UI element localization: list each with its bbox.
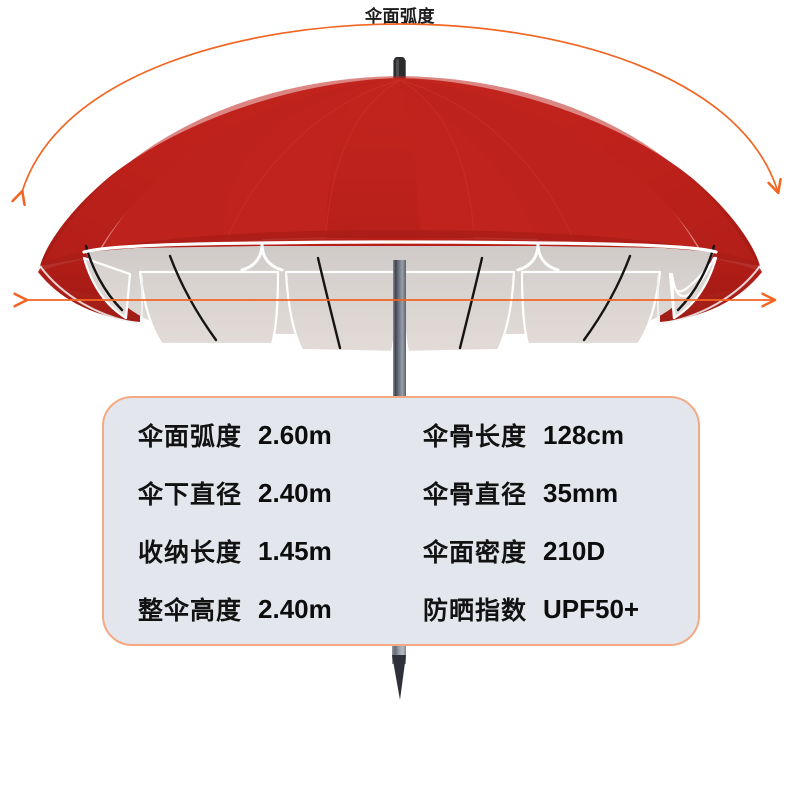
spec-row-3-right: 伞面密度 210D xyxy=(401,533,698,569)
spec-row-2-left: 伞下直径 2.40m xyxy=(104,475,401,511)
spec-label-rib-length: 伞骨长度 xyxy=(423,417,527,453)
spec-label-fabric-density: 伞面密度 xyxy=(423,533,527,569)
product-infographic: 伞面弧度 伞下直径 xyxy=(0,0,800,800)
specifications-grid: 伞面弧度 2.60m 伞骨长度 128cm 伞下直径 2.40m 伞骨直径 35… xyxy=(104,398,698,644)
spec-label-rib-diameter: 伞骨直径 xyxy=(423,475,527,511)
pole-ground-spike xyxy=(392,655,406,700)
spec-value-under-diameter: 2.40m xyxy=(258,478,332,509)
spec-value-fabric-density: 210D xyxy=(543,536,605,567)
spec-value-canopy-arc: 2.60m xyxy=(258,420,332,451)
spec-label-under-diameter: 伞下直径 xyxy=(138,475,242,511)
spec-row-1-left: 伞面弧度 2.60m xyxy=(104,417,401,453)
spec-value-rib-diameter: 35mm xyxy=(543,478,618,509)
spec-row-3-left: 收纳长度 1.45m xyxy=(104,533,401,569)
spec-label-folded-length: 收纳长度 xyxy=(138,533,242,569)
spec-row-4-right: 防晒指数 UPF50+ xyxy=(401,591,698,627)
spec-label-total-height: 整伞高度 xyxy=(138,591,242,627)
umbrella-pole-mid xyxy=(393,260,406,396)
specifications-card: 伞面弧度 2.60m 伞骨长度 128cm 伞下直径 2.40m 伞骨直径 35… xyxy=(102,396,700,646)
spec-row-2-right: 伞骨直径 35mm xyxy=(401,475,698,511)
spec-value-total-height: 2.40m xyxy=(258,594,332,625)
spec-value-upf-rating: UPF50+ xyxy=(543,594,639,625)
spec-label-upf-rating: 防晒指数 xyxy=(423,591,527,627)
spec-value-rib-length: 128cm xyxy=(543,420,624,451)
spec-row-4-left: 整伞高度 2.40m xyxy=(104,591,401,627)
spec-row-1-right: 伞骨长度 128cm xyxy=(401,417,698,453)
spec-value-folded-length: 1.45m xyxy=(258,536,332,567)
spec-label-canopy-arc: 伞面弧度 xyxy=(138,417,242,453)
